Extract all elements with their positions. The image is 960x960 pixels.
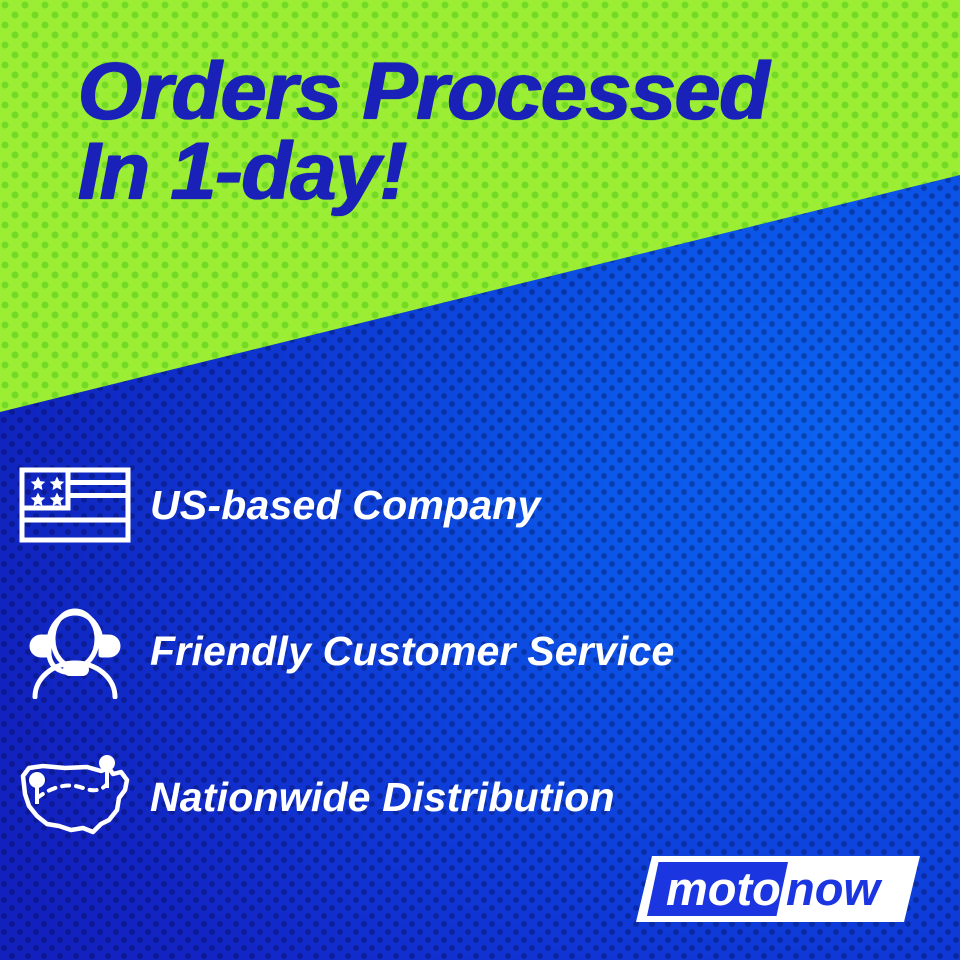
feature-item-us-based: US-based Company (0, 432, 960, 578)
motonow-logo: moto now (636, 856, 920, 922)
us-map-route-icon (0, 754, 150, 840)
us-flag-icon (0, 467, 150, 543)
promo-graphic: Orders Processed In 1-day! (0, 0, 960, 960)
feature-label: Nationwide Distribution (150, 774, 615, 821)
feature-label: US-based Company (150, 482, 541, 529)
feature-list: US-based Company (0, 432, 960, 870)
headline: Orders Processed In 1-day! (78, 52, 918, 213)
logo-text-moto: moto (666, 862, 781, 915)
feature-label: Friendly Customer Service (150, 628, 675, 675)
headset-agent-icon (0, 603, 150, 699)
feature-item-customer-service: Friendly Customer Service (0, 578, 960, 724)
feature-item-nationwide: Nationwide Distribution (0, 724, 960, 870)
logo-text-now: now (786, 862, 883, 915)
